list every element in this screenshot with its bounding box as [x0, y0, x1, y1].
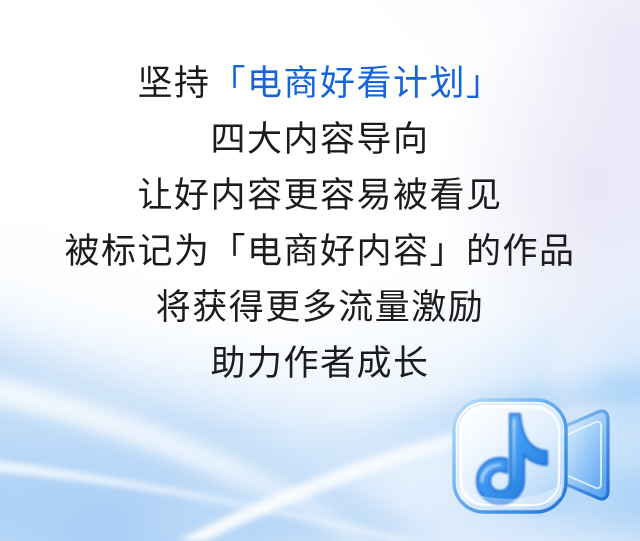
copy-line-6: 助力作者成长 — [0, 336, 640, 392]
copy-line-3: 让好内容更容易被看见 — [0, 168, 640, 224]
headline-copy-block: 坚持「电商好看计划」 四大内容导向 让好内容更容易被看见 被标记为「电商好内容」… — [0, 56, 640, 392]
ribbon-filament-1 — [0, 452, 420, 541]
copy-line-1-prefix: 坚持 — [137, 64, 210, 103]
copy-line-5: 将获得更多流量激励 — [0, 280, 640, 336]
douyin-camera-logo — [448, 392, 614, 518]
ribbon-band-2 — [0, 432, 470, 541]
copy-line-1-highlight: 「电商好看计划」 — [211, 64, 503, 103]
copy-line-2: 四大内容导向 — [0, 112, 640, 168]
copy-line-1: 坚持「电商好看计划」 — [0, 56, 640, 112]
poster-canvas: 坚持「电商好看计划」 四大内容导向 让好内容更容易被看见 被标记为「电商好内容」… — [0, 0, 640, 541]
copy-line-4: 被标记为「电商好内容」的作品 — [0, 224, 640, 280]
